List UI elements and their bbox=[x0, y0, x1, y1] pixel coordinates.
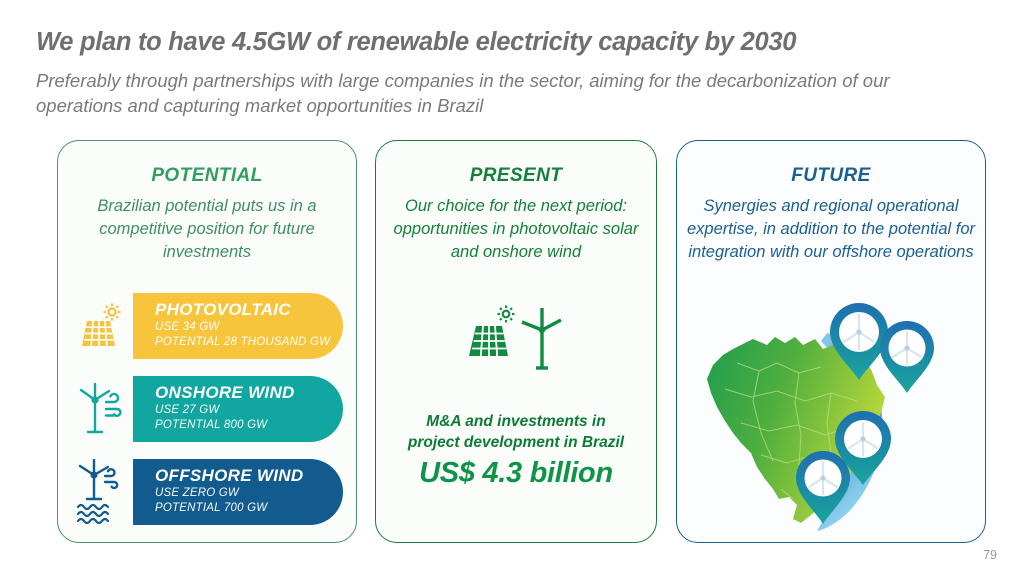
energy-row-photovoltaic[interactable]: PHOTOVOLTAIC USE 34 GW POTENTIAL 28 THOU… bbox=[58, 293, 356, 359]
brazil-map-with-wind-pins bbox=[681, 293, 981, 541]
card-future-title: FUTURE bbox=[677, 165, 985, 187]
energy-bar-offshore-wind: OFFSHORE WIND USE ZERO GW POTENTIAL 700 … bbox=[133, 459, 343, 525]
energy-list: PHOTOVOLTAIC USE 34 GW POTENTIAL 28 THOU… bbox=[58, 293, 356, 542]
energy-bar-photovoltaic: PHOTOVOLTAIC USE 34 GW POTENTIAL 28 THOU… bbox=[133, 293, 343, 359]
card-future: FUTURE Synergies and regional operationa… bbox=[676, 140, 986, 543]
energy-name-onshore-wind: ONSHORE WIND bbox=[155, 382, 343, 403]
energy-use-photovoltaic: USE 34 GW bbox=[155, 320, 343, 335]
map-pin-wind-2 bbox=[880, 321, 934, 393]
energy-name-offshore-wind: OFFSHORE WIND bbox=[155, 465, 343, 486]
offshore-wind-icon bbox=[70, 459, 132, 525]
card-present: PRESENT Our choice for the next period: … bbox=[375, 140, 657, 543]
energy-name-photovoltaic: PHOTOVOLTAIC bbox=[155, 299, 343, 320]
solar-and-wind-icon bbox=[376, 300, 656, 377]
energy-bar-onshore-wind: ONSHORE WIND USE 27 GW POTENTIAL 800 GW bbox=[133, 376, 343, 442]
present-note: M&A and investments in project developme… bbox=[376, 411, 656, 453]
energy-potential-onshore-wind: POTENTIAL 800 GW bbox=[155, 418, 343, 433]
energy-row-onshore-wind[interactable]: ONSHORE WIND USE 27 GW POTENTIAL 800 GW bbox=[58, 376, 356, 442]
page-title: We plan to have 4.5GW of renewable elect… bbox=[36, 28, 986, 57]
slide: We plan to have 4.5GW of renewable elect… bbox=[0, 0, 1019, 573]
card-present-title: PRESENT bbox=[376, 165, 656, 187]
energy-use-offshore-wind: USE ZERO GW bbox=[155, 486, 343, 501]
energy-potential-offshore-wind: POTENTIAL 700 GW bbox=[155, 501, 343, 516]
present-value: US$ 4.3 billion bbox=[376, 457, 656, 490]
card-present-description: Our choice for the next period: opportun… bbox=[376, 195, 656, 264]
energy-potential-photovoltaic: POTENTIAL 28 THOUSAND GW bbox=[155, 335, 343, 350]
card-potential-title: POTENTIAL bbox=[58, 165, 356, 187]
page-subtitle: Preferably through partnerships with lar… bbox=[36, 68, 976, 118]
page-number: 79 bbox=[983, 548, 997, 562]
wind-turbine-icon bbox=[70, 376, 132, 442]
solar-panel-icon bbox=[70, 293, 132, 359]
card-potential: POTENTIAL Brazilian potential puts us in… bbox=[57, 140, 357, 543]
card-future-description: Synergies and regional operational exper… bbox=[677, 195, 985, 264]
energy-row-offshore-wind[interactable]: OFFSHORE WIND USE ZERO GW POTENTIAL 700 … bbox=[58, 459, 356, 525]
card-potential-description: Brazilian potential puts us in a competi… bbox=[58, 195, 356, 264]
energy-use-onshore-wind: USE 27 GW bbox=[155, 403, 343, 418]
